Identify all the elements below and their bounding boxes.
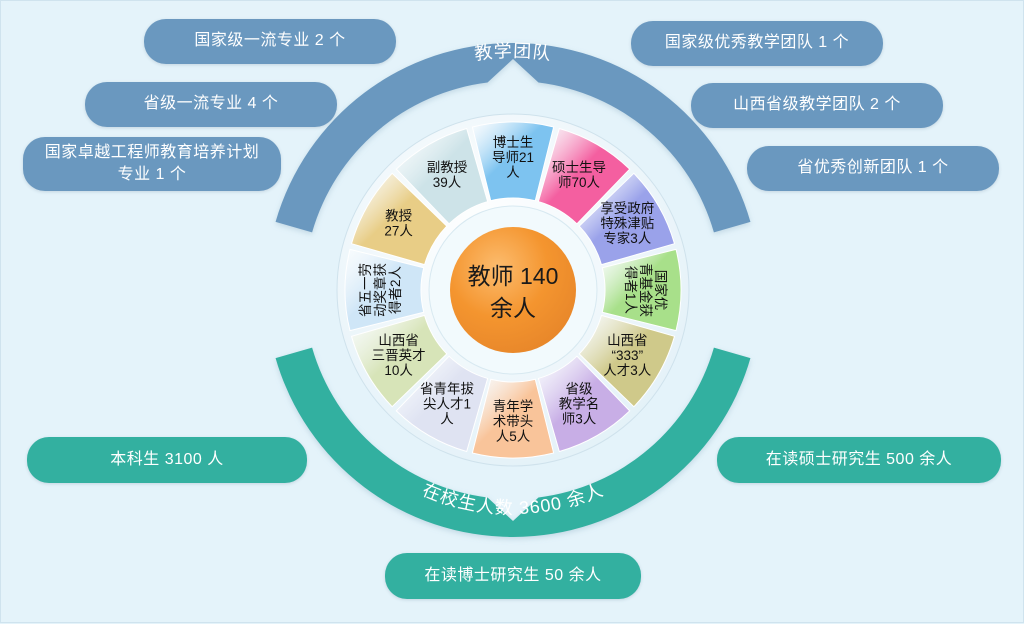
donut-segment-label: 硕士生导师70人 xyxy=(552,160,606,190)
donut-segment-label: 青年学术带头人5人 xyxy=(493,399,534,444)
pill-label: 省优秀创新团队 1 个 xyxy=(797,157,948,179)
donut-segment-label: 享受政府特殊津贴专家3人 xyxy=(600,200,654,246)
donut-segment-label: 国家优青基金获得者1人 xyxy=(623,263,669,317)
pill-national-excellent-teaching-team[interactable]: 国家级优秀教学团队 1 个 xyxy=(631,21,883,66)
pill-undergraduate-count[interactable]: 本科生 3100 人 xyxy=(27,437,307,483)
pill-label-line1: 国家卓越工程师教育培养计划 xyxy=(45,142,260,164)
center-circle xyxy=(450,227,576,353)
pill-label: 本科生 3100 人 xyxy=(110,449,224,471)
infographic-canvas: 教学团队 在校生人数 3600 余人 省五一劳动奖章获得者2人教授27人副教授3… xyxy=(1,1,1023,622)
pill-label: 国家级优秀教学团队 1 个 xyxy=(665,32,849,54)
donut-segment-label: 教授27人 xyxy=(384,208,413,238)
pill-label: 国家级一流专业 2 个 xyxy=(194,30,345,52)
pill-excellent-engineer-program[interactable]: 国家卓越工程师教育培养计划 专业 1 个 xyxy=(23,137,281,191)
pill-label: 山西省级教学团队 2 个 xyxy=(733,94,901,116)
pill-label: 省级一流专业 4 个 xyxy=(144,93,279,115)
pill-label-line2: 专业 1 个 xyxy=(118,164,187,186)
pill-shanxi-provincial-teaching-team[interactable]: 山西省级教学团队 2 个 xyxy=(691,83,943,128)
pill-provincial-innovation-team[interactable]: 省优秀创新团队 1 个 xyxy=(747,146,999,191)
pill-doctoral-student-count[interactable]: 在读博士研究生 50 余人 xyxy=(385,553,641,599)
center-label-line2: 余人 xyxy=(490,295,536,321)
pill-label: 在读硕士研究生 500 余人 xyxy=(766,449,953,471)
donut-segment-label: 副教授39人 xyxy=(427,160,468,190)
pill-national-first-class-major[interactable]: 国家级一流专业 2 个 xyxy=(144,19,396,64)
donut-segment-label: 省五一劳动奖章获得者2人 xyxy=(358,263,403,317)
center-label-line1: 教师 140 xyxy=(468,263,559,289)
pill-master-student-count[interactable]: 在读硕士研究生 500 余人 xyxy=(717,437,1001,483)
pill-provincial-first-class-major[interactable]: 省级一流专业 4 个 xyxy=(85,82,337,127)
pill-label: 在读博士研究生 50 余人 xyxy=(424,565,601,587)
